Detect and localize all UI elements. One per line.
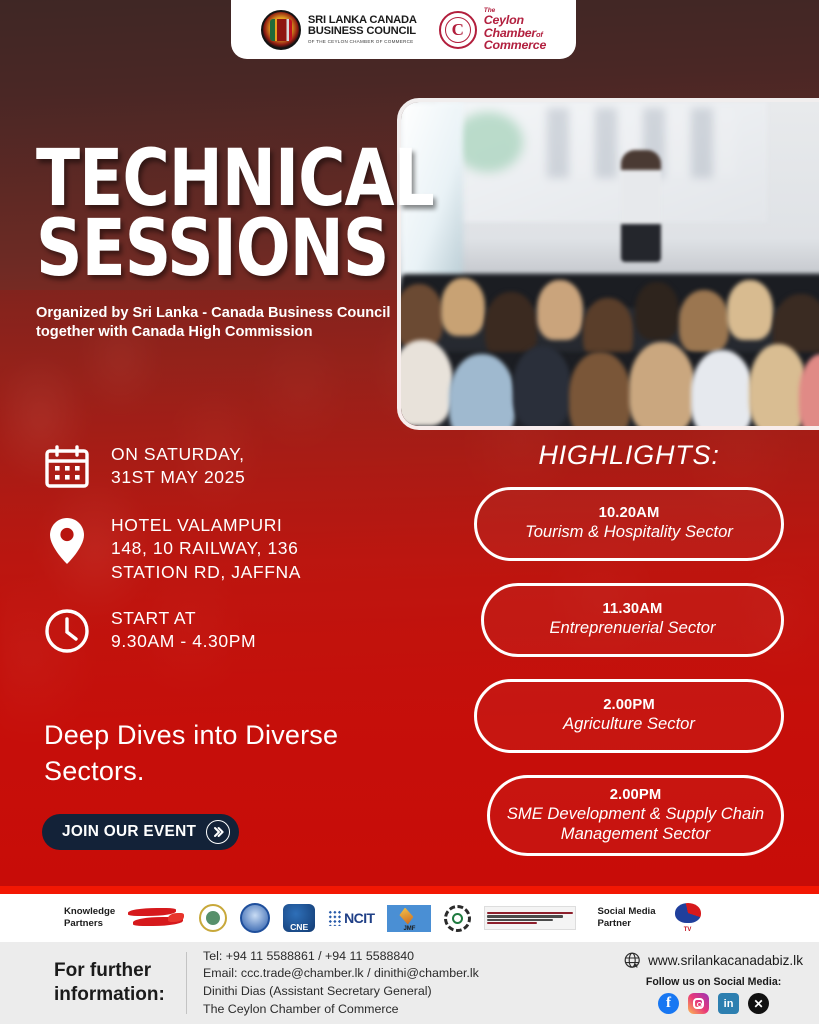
detail-row-location: HOTEL VALAMPURI 148, 10 RAILWAY, 136 STA… bbox=[40, 514, 301, 584]
sri-lanka-canada-swoosh-logo bbox=[128, 905, 186, 931]
globe-icon bbox=[624, 952, 641, 969]
slcbc-line3: OF THE CEYLON CHAMBER OF COMMERCE bbox=[308, 40, 417, 45]
page-subtitle: Organized by Sri Lanka - Canada Business… bbox=[36, 304, 406, 341]
date-line1: ON SATURDAY, bbox=[111, 443, 245, 466]
highlight-sector: SME Development & Supply Chain Managemen… bbox=[504, 804, 767, 844]
contact-person: Dinithi Dias (Assistant Secretary Genera… bbox=[203, 983, 479, 1001]
time-line2: 9.30AM - 4.30PM bbox=[111, 630, 256, 653]
calendar-icon bbox=[40, 440, 94, 494]
footer-right: www.srilankacanadabiz.lk Follow us on So… bbox=[624, 952, 819, 1014]
highlight-time: 10.20AM bbox=[599, 505, 660, 521]
website-url: www.srilankacanadabiz.lk bbox=[648, 953, 803, 968]
join-our-event-button[interactable]: JOIN OUR EVENT bbox=[42, 814, 239, 850]
social-media-partner-label: Social Media Partner bbox=[597, 906, 655, 930]
knowledge-partners-label: Knowledge Partners bbox=[64, 906, 115, 930]
highlight-time: 2.00PM bbox=[603, 697, 655, 713]
header-logo-bar: SRI LANKA CANADA BUSINESS COUNCIL OF THE… bbox=[231, 0, 576, 59]
page-title-line2: SESSIONS bbox=[36, 214, 434, 284]
instagram-icon[interactable] bbox=[688, 993, 709, 1014]
speaker-figure bbox=[621, 150, 661, 262]
highlight-time: 2.00PM bbox=[610, 787, 662, 803]
clock-icon bbox=[40, 604, 94, 658]
date-line2: 31ST MAY 2025 bbox=[111, 466, 245, 489]
location-line1: HOTEL VALAMPURI bbox=[111, 514, 301, 537]
sri-lanka-crest-icon bbox=[261, 10, 301, 50]
location-line3: STATION RD, JAFFNA bbox=[111, 561, 301, 584]
location-pin-icon bbox=[40, 514, 94, 568]
jmf-logo: JMF bbox=[387, 905, 431, 932]
for-further-information-label: For further information: bbox=[0, 959, 186, 1007]
location-line2: 148, 10 RAILWAY, 136 bbox=[111, 537, 301, 560]
highlight-sector: Entreprenuerial Sector bbox=[549, 618, 715, 638]
title-block: TECHNICAL SESSIONS Organized by Sri Lank… bbox=[36, 144, 468, 342]
blue-chamber-seal-logo bbox=[240, 903, 270, 933]
social-icons: f in ✕ bbox=[624, 993, 803, 1014]
contact-tel: Tel: +94 11 5588861 / +94 11 5588840 bbox=[203, 948, 479, 966]
tagline: Deep Dives into Diverse Sectors. bbox=[44, 718, 394, 790]
contact-org: The Ceylon Chamber of Commerce bbox=[203, 1001, 479, 1019]
x-twitter-icon[interactable]: ✕ bbox=[748, 993, 769, 1014]
highlight-item[interactable]: 2.00PM Agriculture Sector bbox=[474, 679, 784, 753]
bcci-wordmark-logo bbox=[484, 906, 576, 930]
logo-ceylon-chamber-of-commerce: The Ceylon Chamberof Commerce bbox=[439, 8, 546, 52]
partner-strip: Knowledge Partners CNE NCIT JMF Social M… bbox=[0, 894, 819, 942]
ncit-logo: NCIT bbox=[328, 910, 374, 926]
highlight-item[interactable]: 11.30AM Entreprenuerial Sector bbox=[481, 583, 784, 657]
follow-label: Follow us on Social Media: bbox=[624, 976, 803, 988]
time-line1: START AT bbox=[111, 607, 256, 630]
ceylon-chamber-crest-icon bbox=[439, 11, 477, 49]
contact-email: Email: ccc.trade@chamber.lk / dinithi@ch… bbox=[203, 965, 479, 983]
join-our-event-label: JOIN OUR EVENT bbox=[62, 823, 196, 841]
projection-screen bbox=[437, 102, 767, 222]
page-title: TECHNICAL SESSIONS bbox=[36, 144, 434, 284]
highlights-section: HIGHLIGHTS: 10.20AM Tourism & Hospitalit… bbox=[474, 440, 784, 878]
website-link[interactable]: www.srilankacanadabiz.lk bbox=[624, 952, 803, 969]
accent-stripe bbox=[0, 886, 819, 894]
footer: For further information: Tel: +94 11 558… bbox=[0, 942, 819, 1024]
gold-seal-logo bbox=[199, 904, 227, 932]
cne-logo: CNE bbox=[283, 904, 315, 932]
linkedin-icon[interactable]: in bbox=[718, 993, 739, 1014]
highlight-sector: Tourism & Hospitality Sector bbox=[525, 522, 733, 542]
slcbc-line2: BUSINESS COUNCIL bbox=[308, 26, 417, 37]
contact-details: Tel: +94 11 5588861 / +94 11 5588840 Ema… bbox=[187, 948, 479, 1018]
bcci-gear-logo bbox=[444, 905, 471, 932]
highlight-sector: Agriculture Sector bbox=[563, 714, 695, 734]
highlights-heading: HIGHLIGHTS: bbox=[474, 440, 784, 471]
facebook-icon[interactable]: f bbox=[658, 993, 679, 1014]
highlight-time: 11.30AM bbox=[603, 601, 663, 617]
detail-row-date: ON SATURDAY, 31ST MAY 2025 bbox=[40, 440, 301, 494]
chevron-right-circle-icon bbox=[206, 820, 230, 844]
detail-row-time: START AT 9.30AM - 4.30PM bbox=[40, 604, 301, 658]
poster-root: SRI LANKA CANADA BUSINESS COUNCIL OF THE… bbox=[0, 0, 819, 1024]
ccc-line3: Commerce bbox=[484, 39, 546, 51]
highlight-item[interactable]: 10.20AM Tourism & Hospitality Sector bbox=[474, 487, 784, 561]
logo-sri-lanka-canada-business-council: SRI LANKA CANADA BUSINESS COUNCIL OF THE… bbox=[261, 10, 417, 50]
event-details: ON SATURDAY, 31ST MAY 2025 HOTEL VALAMPU… bbox=[40, 440, 301, 678]
social-media-partner-tv-logo: TV bbox=[669, 903, 707, 933]
highlight-item[interactable]: 2.00PM SME Development & Supply Chain Ma… bbox=[487, 775, 784, 856]
